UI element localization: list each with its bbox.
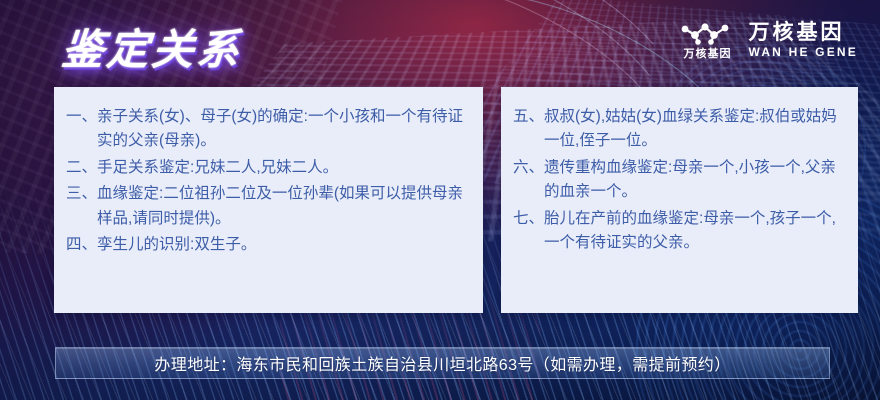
list-item-text: 手足关系鉴定:兄妹二人,兄妹二人。 (97, 156, 469, 180)
molecule-network-icon (680, 20, 734, 46)
list-item-number: 二、 (66, 156, 97, 180)
poster-canvas: 鉴定关系 (0, 0, 880, 400)
list-item-number: 四、 (66, 233, 97, 257)
list-item-number: 五、 (513, 105, 544, 129)
list-item-number: 七、 (513, 207, 544, 231)
list-item: 六、 遗传重构血缘鉴定:母亲一个,小孩一个,父亲的血亲一个。 (513, 156, 844, 205)
list-item-text: 遗传重构血缘鉴定:母亲一个,小孩一个,父亲的血亲一个。 (544, 156, 844, 205)
address-text: 办理地址：海东市民和回族土族自治县川垣北路63号（如需办理，需提前预约） (154, 351, 730, 375)
list-item-number: 三、 (66, 182, 97, 206)
brand-mark-label: 万核基因 (683, 49, 731, 60)
page-title: 鉴定关系 (59, 16, 244, 77)
list-item-text: 血缘鉴定:二位祖孙二位及一位孙辈(如果可以提供母亲样品,请同时提供)。 (97, 182, 469, 231)
list-item-number: 六、 (513, 156, 544, 180)
list-item-number: 一、 (66, 105, 97, 129)
content-panels: 一、 亲子关系(女)、母子(女)的确定:一个小孩和一个有待证实的父亲(母亲)。 … (54, 87, 858, 313)
brand-logo: 万核基因 万核基因 WAN HE GENE (680, 20, 858, 60)
brand-name-en: WAN HE GENE (748, 46, 858, 59)
list-item-text: 胎儿在产前的血缘鉴定:母亲一个,孩子一个,一个有待证实的父亲。 (544, 207, 844, 256)
list-item: 二、 手足关系鉴定:兄妹二人,兄妹二人。 (66, 156, 469, 180)
brand-wordmark: 万核基因 WAN HE GENE (748, 22, 858, 59)
list-item: 一、 亲子关系(女)、母子(女)的确定:一个小孩和一个有待证实的父亲(母亲)。 (66, 105, 469, 154)
list-item: 七、 胎儿在产前的血缘鉴定:母亲一个,孩子一个,一个有待证实的父亲。 (513, 207, 844, 256)
panel-left: 一、 亲子关系(女)、母子(女)的确定:一个小孩和一个有待证实的父亲(母亲)。 … (54, 87, 483, 313)
list-item-text: 亲子关系(女)、母子(女)的确定:一个小孩和一个有待证实的父亲(母亲)。 (97, 105, 469, 154)
list-item-text: 叔叔(女),姑姑(女)血绿关系鉴定:叔伯或姑妈一位,侄子一位。 (544, 105, 844, 154)
panel-right: 五、 叔叔(女),姑姑(女)血绿关系鉴定:叔伯或姑妈一位,侄子一位。 六、 遗传… (501, 87, 858, 313)
address-bar: 办理地址：海东市民和回族土族自治县川垣北路63号（如需办理，需提前预约） (55, 347, 830, 379)
list-item: 五、 叔叔(女),姑姑(女)血绿关系鉴定:叔伯或姑妈一位,侄子一位。 (513, 105, 844, 154)
list-item-text: 孪生儿的识别:双生子。 (97, 233, 469, 257)
brand-mark: 万核基因 (680, 20, 734, 60)
list-item: 四、 孪生儿的识别:双生子。 (66, 233, 469, 257)
list-item: 三、 血缘鉴定:二位祖孙二位及一位孙辈(如果可以提供母亲样品,请同时提供)。 (66, 182, 469, 231)
brand-name-cn: 万核基因 (748, 22, 858, 44)
